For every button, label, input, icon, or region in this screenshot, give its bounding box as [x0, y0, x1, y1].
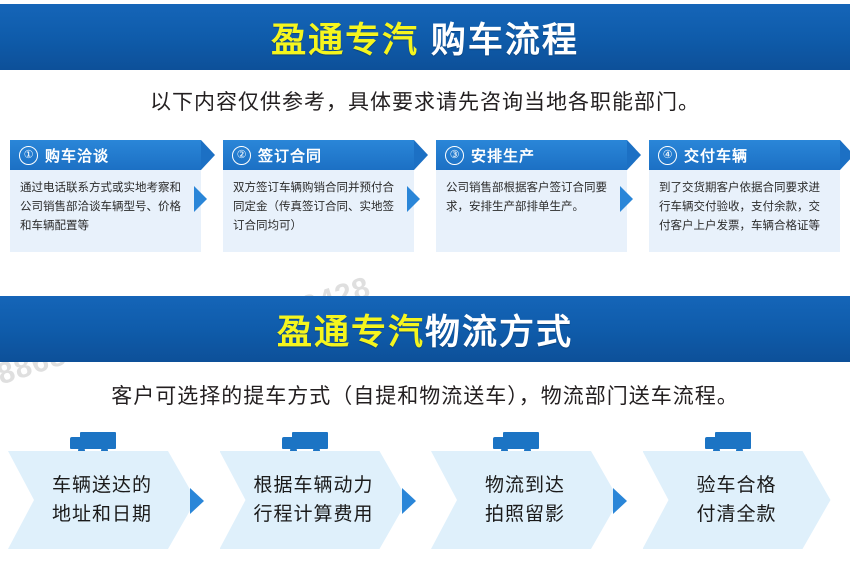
- step-body: 到了交货期客户依据合同要求进行车辆交付验收，支付余款，交付客户上户发票，车辆合格…: [649, 170, 840, 252]
- logistics-subtitle: 客户可选择的提车方式（自提和物流送车），物流部门送车流程。: [0, 380, 850, 410]
- step-number: ④: [658, 146, 677, 165]
- card-line-1: 车辆送达的: [52, 471, 152, 500]
- logistics-card: 验车合格 付清全款: [643, 432, 843, 552]
- chevron-right-icon: [402, 488, 416, 514]
- logistics-card: 车辆送达的 地址和日期: [8, 432, 208, 552]
- page-root: 13886852428 13886852428 13886852428 1388…: [0, 0, 850, 564]
- chevron-right-icon: [407, 186, 420, 212]
- logistics-card: 物流到达 拍照留影: [431, 432, 631, 552]
- logistics-cards: 车辆送达的 地址和日期 根据车辆动力 行程计算费用 物流到达 拍照留影: [8, 432, 842, 552]
- step-title: 安排生产: [471, 145, 535, 166]
- card-line-1: 物流到达: [485, 471, 565, 500]
- step-number: ②: [232, 146, 251, 165]
- step-header: ④ 交付车辆: [649, 140, 840, 170]
- card-line-1: 根据车辆动力: [253, 471, 373, 500]
- step-item: ④ 交付车辆 到了交货期客户依据合同要求进行车辆交付验收，支付余款，交付客户上户…: [649, 140, 840, 252]
- step-header: ① 购车洽谈: [10, 140, 201, 170]
- step-title: 交付车辆: [684, 145, 748, 166]
- step-item: ① 购车洽谈 通过电话联系方式或实地考察和公司销售部洽谈车辆型号、价格和车辆配置…: [10, 140, 201, 252]
- step-header: ③ 安排生产: [436, 140, 627, 170]
- step-title: 购车洽谈: [45, 145, 109, 166]
- purchase-process-title: 盈通专汽 购车流程: [271, 12, 579, 63]
- logistics-card-body: 物流到达 拍照留影: [431, 451, 619, 549]
- chevron-right-icon: [620, 186, 633, 212]
- card-line-1: 验车合格: [696, 471, 776, 500]
- banner-highlight-text: 盈通专汽: [277, 313, 425, 352]
- purchase-process-subtitle: 以下内容仅供参考，具体要求请先咨询当地各职能部门。: [0, 86, 850, 116]
- step-header: ② 签订合同: [223, 140, 414, 170]
- step-item: ② 签订合同 双方签订车辆购销合同并预付合同定金（传真签订合同、实地签订合同均可…: [223, 140, 414, 252]
- logistics-title: 盈通专汽物流方式: [277, 304, 573, 355]
- chevron-right-icon: [613, 488, 627, 514]
- truck-icon: [282, 432, 328, 454]
- purchase-process-banner: 盈通专汽 购车流程: [0, 4, 850, 70]
- logistics-card-body: 根据车辆动力 行程计算费用: [220, 451, 408, 549]
- chevron-right-icon: [190, 488, 204, 514]
- banner-rest-text: 物流方式: [425, 313, 573, 352]
- truck-icon: [493, 432, 539, 454]
- logistics-card-body: 车辆送达的 地址和日期: [8, 451, 196, 549]
- step-title: 签订合同: [258, 145, 322, 166]
- step-body: 通过电话联系方式或实地考察和公司销售部洽谈车辆型号、价格和车辆配置等: [10, 170, 201, 252]
- card-line-2: 拍照留影: [485, 500, 565, 529]
- card-line-2: 地址和日期: [52, 500, 152, 529]
- step-body: 双方签订车辆购销合同并预付合同定金（传真签订合同、实地签订合同均可）: [223, 170, 414, 252]
- logistics-card-body: 验车合格 付清全款: [643, 451, 831, 549]
- step-body: 公司销售部根据客户签订合同要求，安排生产部排单生产。: [436, 170, 627, 252]
- chevron-right-icon: [194, 186, 207, 212]
- banner-rest-text: 购车流程: [419, 21, 579, 60]
- step-item: ③ 安排生产 公司销售部根据客户签订合同要求，安排生产部排单生产。: [436, 140, 627, 252]
- step-number: ③: [445, 146, 464, 165]
- card-line-2: 付清全款: [696, 500, 776, 529]
- logistics-banner: 盈通专汽物流方式: [0, 296, 850, 362]
- step-number: ①: [19, 146, 38, 165]
- logistics-card: 根据车辆动力 行程计算费用: [220, 432, 420, 552]
- card-line-2: 行程计算费用: [253, 500, 373, 529]
- truck-icon: [705, 432, 751, 454]
- purchase-steps: ① 购车洽谈 通过电话联系方式或实地考察和公司销售部洽谈车辆型号、价格和车辆配置…: [10, 140, 840, 255]
- banner-highlight-text: 盈通专汽: [271, 21, 419, 60]
- truck-icon: [70, 432, 116, 454]
